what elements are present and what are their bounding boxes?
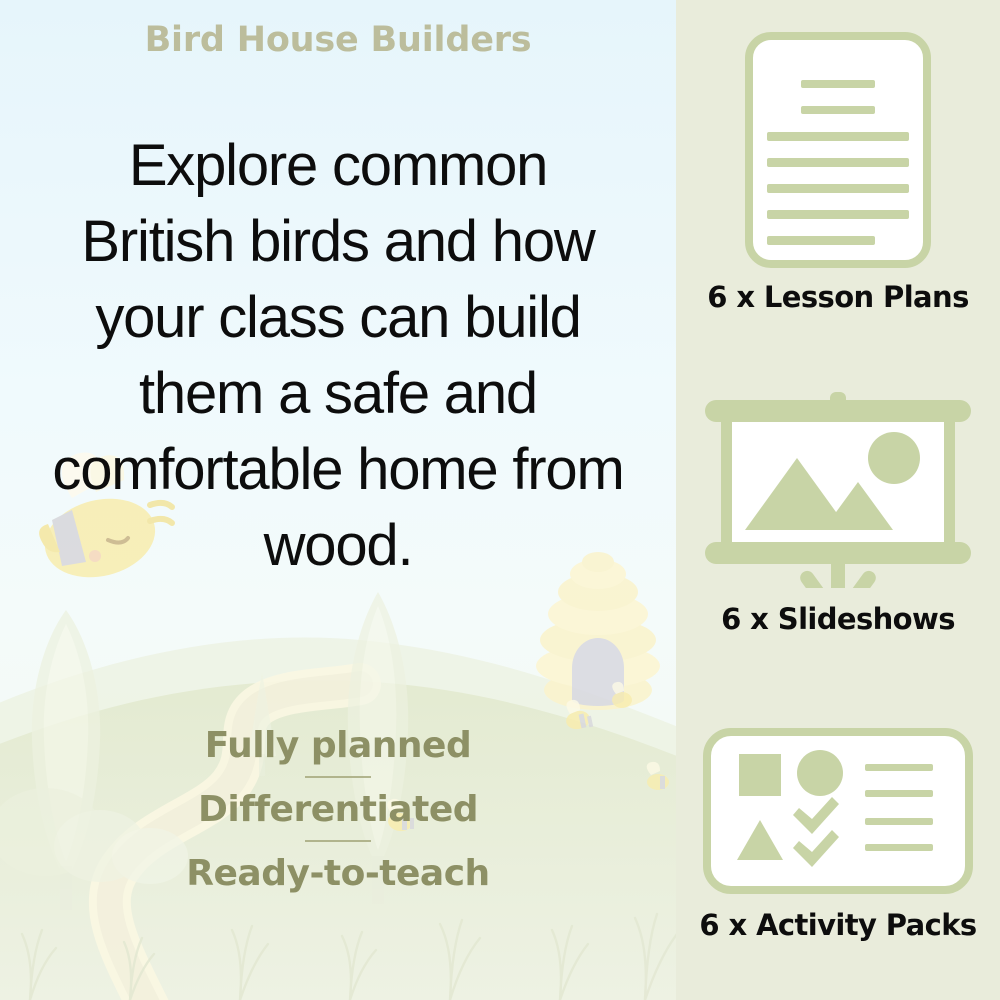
- asset-label-slideshows: 6 x Slideshows: [676, 602, 1000, 636]
- presentation-screen-icon: [699, 392, 977, 588]
- description-line: wood.: [14, 508, 662, 584]
- description-line: comfortable home from: [14, 432, 662, 508]
- left-content-panel: Bird House Builders Explore common Briti…: [0, 0, 676, 1000]
- asset-item-activity-packs[interactable]: 6 x Activity Packs: [676, 728, 1000, 942]
- asset-item-slideshows[interactable]: 6 x Slideshows: [676, 392, 1000, 636]
- asset-item-lesson-plans[interactable]: 6 x Lesson Plans: [676, 32, 1000, 314]
- feature-list: Fully planned Differentiated Ready-to-te…: [0, 718, 676, 901]
- feature-item-ready-to-teach: Ready-to-teach: [0, 846, 676, 901]
- description-line: your class can build: [14, 280, 662, 356]
- description-line: British birds and how: [14, 204, 662, 280]
- asset-label-lesson-plans: 6 x Lesson Plans: [676, 280, 1000, 314]
- feature-item-fully-planned: Fully planned: [0, 718, 676, 773]
- document-icon: [745, 32, 931, 268]
- assets-sidebar: 6 x Lesson Plans: [676, 0, 1000, 1000]
- feature-item-differentiated: Differentiated: [0, 782, 676, 837]
- feature-divider: [305, 776, 371, 778]
- activity-card-icon: [703, 728, 973, 894]
- description-line: them a safe and: [14, 356, 662, 432]
- description-line: Explore common: [14, 128, 662, 204]
- page-title: Bird House Builders: [0, 20, 676, 60]
- asset-label-activity-packs: 6 x Activity Packs: [676, 908, 1000, 942]
- description-text: Explore common British birds and how you…: [14, 128, 662, 584]
- promo-card: Bird House Builders Explore common Briti…: [0, 0, 1000, 1000]
- feature-divider: [305, 840, 371, 842]
